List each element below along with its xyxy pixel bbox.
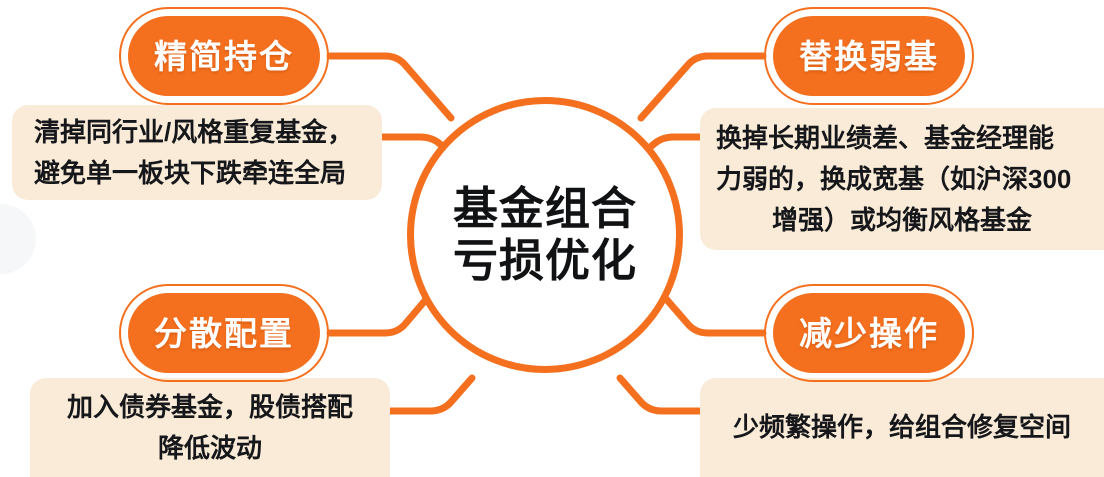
card-text-line: 避免单一板块下跌牵连全局: [34, 153, 360, 194]
pill-label: 减少操作: [799, 317, 939, 350]
pill-body: 减少操作: [773, 293, 965, 373]
card-text-line: 换掉长期业绩差、基金经理能: [716, 118, 1088, 159]
branch-card-replace-weak-funds: 换掉长期业绩差、基金经理能力弱的，换成宽基（如沪深300增强）或均衡风格基金: [700, 108, 1104, 250]
pill-body: 精简持仓: [128, 16, 320, 96]
card-text: 换掉长期业绩差、基金经理能力弱的，换成宽基（如沪深300增强）或均衡风格基金: [716, 118, 1088, 241]
connector-bottom-left-card: [386, 378, 472, 411]
branch-pill-replace-weak-funds[interactable]: 替换弱基: [764, 7, 974, 105]
branch-pill-reduce-trading[interactable]: 减少操作: [764, 284, 974, 382]
card-text-line: 少频繁操作，给组合修复空间: [718, 407, 1086, 448]
connector-bottom-right-card: [620, 378, 706, 411]
card-text: 加入债券基金，股债搭配降低波动: [48, 387, 372, 469]
branch-card-reduce-trading: 少频繁操作，给组合修复空间: [700, 378, 1104, 477]
card-text-line: 增强）或均衡风格基金: [716, 200, 1088, 241]
hub-title-line2: 亏损优化: [453, 235, 637, 287]
central-hub: 基金组合 亏损优化: [407, 97, 683, 373]
infographic-canvas: 基金组合 亏损优化 精简持仓 替换弱基 分散配置 减少操作 清掉同行业/风格重复…: [0, 0, 1104, 477]
branch-card-simplify-holdings: 清掉同行业/风格重复基金，避免单一板块下跌牵连全局: [12, 105, 382, 200]
card-text: 清掉同行业/风格重复基金，避免单一板块下跌牵连全局: [34, 112, 360, 194]
pill-body: 分散配置: [128, 293, 320, 373]
hub-title-line1: 基金组合: [453, 183, 637, 235]
pill-label: 分散配置: [154, 317, 294, 350]
card-text-line: 清掉同行业/风格重复基金，: [34, 112, 360, 153]
pill-body: 替换弱基: [773, 16, 965, 96]
branch-pill-simplify-holdings[interactable]: 精简持仓: [119, 7, 329, 105]
card-text-line: 降低波动: [48, 428, 372, 469]
pill-label: 精简持仓: [154, 40, 294, 73]
card-text-line: 加入债券基金，股债搭配: [48, 387, 372, 428]
branch-pill-diversify-allocation[interactable]: 分散配置: [119, 284, 329, 382]
card-text-line: 力弱的，换成宽基（如沪深300: [716, 159, 1088, 200]
pill-label: 替换弱基: [799, 40, 939, 73]
card-text: 少频繁操作，给组合修复空间: [718, 407, 1086, 448]
branch-card-diversify-allocation: 加入债券基金，股债搭配降低波动: [30, 378, 390, 477]
